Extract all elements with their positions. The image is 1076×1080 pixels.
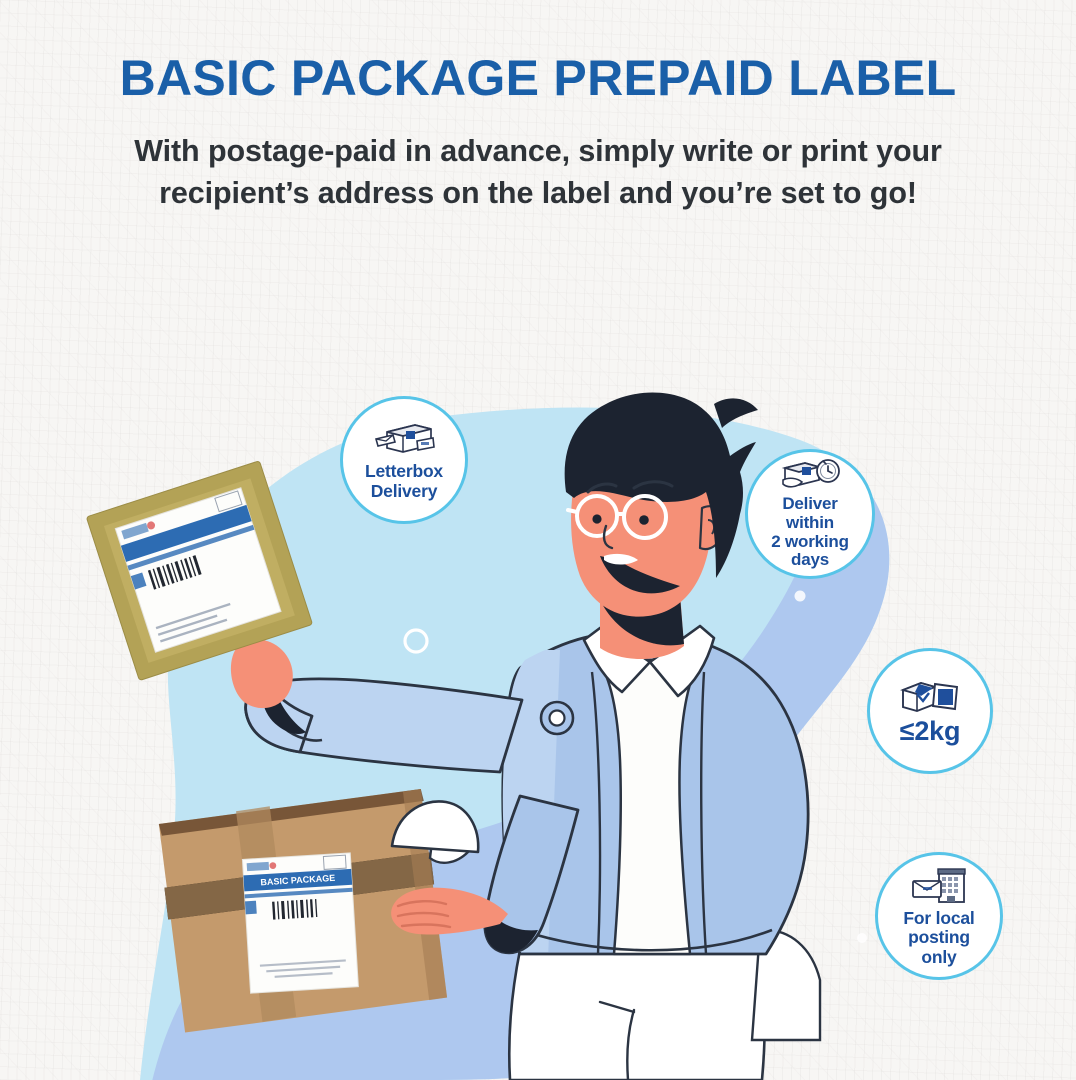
- letterbox-icon: [373, 419, 435, 457]
- badge-letterbox-delivery[interactable]: Letterbox Delivery: [340, 396, 468, 524]
- badge-max-weight[interactable]: ≤2kg: [867, 648, 993, 774]
- delivery-clock-icon: [779, 458, 841, 492]
- badge-delivery-time-label: Deliver within 2 working days: [771, 495, 849, 570]
- badge-local-posting-label: For local posting only: [903, 909, 974, 967]
- page-subtitle: With postage-paid in advance, simply wri…: [0, 131, 1076, 215]
- box-and-parcel-icon: [899, 675, 961, 715]
- poster-canvas: BASIC PACKAGE PREPAID LABEL With postage…: [0, 0, 1076, 1080]
- badge-max-weight-label: ≤2kg: [900, 717, 961, 747]
- page-title: BASIC PACKAGE PREPAID LABEL: [0, 52, 1076, 105]
- badge-local-posting[interactable]: For local posting only: [875, 852, 1003, 980]
- badge-letterbox-label: Letterbox Delivery: [365, 462, 443, 501]
- character-trousers: [509, 950, 764, 1080]
- badge-delivery-time[interactable]: Deliver within 2 working days: [745, 449, 875, 579]
- post-office-icon: [909, 865, 969, 905]
- dot-decoration-2: [857, 933, 867, 943]
- header-block: BASIC PACKAGE PREPAID LABEL With postage…: [0, 52, 1076, 215]
- dot-decoration: [795, 591, 806, 602]
